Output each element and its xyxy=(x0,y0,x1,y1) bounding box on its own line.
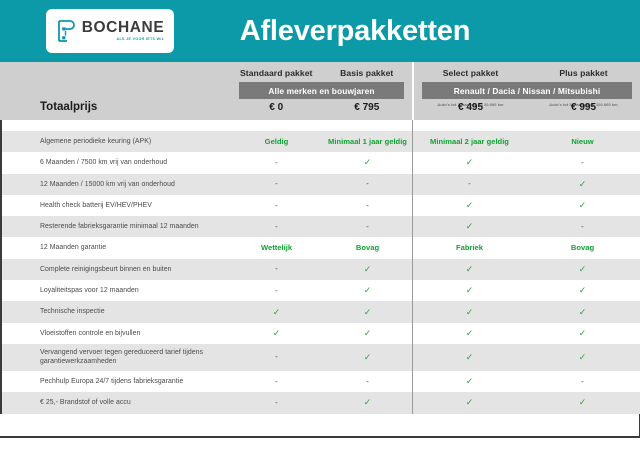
dash-icon: - xyxy=(275,378,278,386)
cell-basis: ✓ xyxy=(322,344,413,371)
left-edge-rule xyxy=(0,344,2,371)
dash-icon: - xyxy=(366,378,369,386)
check-icon: ✓ xyxy=(579,308,587,317)
check-icon: ✓ xyxy=(466,222,474,231)
cell-plus: ✓ xyxy=(526,344,639,371)
check-icon: ✓ xyxy=(466,329,474,338)
cell-value: Bovag xyxy=(571,244,594,252)
cell-value: Minimaal 1 jaar geldig xyxy=(328,138,407,146)
dash-icon: - xyxy=(366,223,369,231)
page-title: Afleverpakketten xyxy=(0,15,640,48)
row-label-cell: Vloeistoffen controle en bijvullen xyxy=(0,323,231,344)
table-row: 12 Maanden garantieWettelijkBovagFabriek… xyxy=(0,237,640,258)
cell-plus: Nieuw xyxy=(526,131,639,152)
check-icon: ✓ xyxy=(579,286,587,295)
cell-standaard: - xyxy=(231,280,322,301)
left-edge-rule xyxy=(0,131,2,152)
cell-standaard: ✓ xyxy=(231,323,322,344)
dash-icon: - xyxy=(275,265,278,273)
cell-plus: ✓ xyxy=(526,301,639,322)
group-band-all-brands: Alle merken en bouwjaren xyxy=(239,82,404,99)
cell-basis: Bovag xyxy=(322,237,413,258)
cell-plus: ✓ xyxy=(526,323,639,344)
column-title-select: Select pakket xyxy=(414,68,527,78)
dash-icon: - xyxy=(366,202,369,210)
price-plus: € 995 xyxy=(527,102,640,113)
check-icon: ✓ xyxy=(579,201,587,210)
cell-basis: ✓ xyxy=(322,152,413,173)
left-edge-rule xyxy=(0,195,2,216)
group-divider-rule xyxy=(412,237,413,258)
dash-icon: - xyxy=(581,223,584,231)
table-row: Technische inspectie✓✓✓✓ xyxy=(0,301,640,322)
cell-standaard: - xyxy=(231,392,322,413)
cell-value: Fabriek xyxy=(456,244,483,252)
cell-standaard: Geldig xyxy=(231,131,322,152)
row-label-cell: Pechhulp Europa 24/7 tijdens fabrieksgar… xyxy=(0,371,231,392)
column-title-basis: Basis pakket xyxy=(322,68,413,78)
cell-basis: ✓ xyxy=(322,280,413,301)
cell-plus: ✓ xyxy=(526,280,639,301)
group-divider-rule xyxy=(412,344,413,371)
cell-select: ✓ xyxy=(413,323,526,344)
left-edge-rule xyxy=(0,301,2,322)
table-row: Health check batterij EV/HEV/PHEV--✓✓ xyxy=(0,195,640,216)
dash-icon: - xyxy=(275,399,278,407)
group-divider-rule xyxy=(412,301,413,322)
check-icon: ✓ xyxy=(466,286,474,295)
cell-basis: - xyxy=(322,174,413,195)
cell-standaard: - xyxy=(231,371,322,392)
row-label: Pechhulp Europa 24/7 tijdens fabrieksgar… xyxy=(40,377,183,386)
check-icon: ✓ xyxy=(466,265,474,274)
table-footer-strip xyxy=(0,414,640,438)
cell-standaard: - xyxy=(231,152,322,173)
dash-icon: - xyxy=(275,159,278,167)
cell-basis: ✓ xyxy=(322,392,413,413)
package-comparison-table: Totaalprijs Standaard pakket Basis pakke… xyxy=(0,62,640,438)
page-header: BOCHANE ALS JE VOOR IETS WIL Afleverpakk… xyxy=(0,0,640,62)
left-edge-rule xyxy=(0,323,2,344)
check-icon: ✓ xyxy=(364,286,372,295)
row-label-cell: Vervangend vervoer tegen gereduceerd tar… xyxy=(0,344,231,371)
dash-icon: - xyxy=(275,223,278,231)
group-divider-rule xyxy=(412,392,413,413)
cell-basis: - xyxy=(322,371,413,392)
cell-select: ✓ xyxy=(413,152,526,173)
cell-plus: ✓ xyxy=(526,195,639,216)
cell-plus: ✓ xyxy=(526,259,639,280)
dash-icon: - xyxy=(275,353,278,361)
check-icon: ✓ xyxy=(364,265,372,274)
left-edge-rule xyxy=(0,152,2,173)
price-basis: € 795 xyxy=(322,102,413,113)
table-row: Complete reinigingsbeurt binnen en buite… xyxy=(0,259,640,280)
cell-select: ✓ xyxy=(413,371,526,392)
check-icon: ✓ xyxy=(364,353,372,362)
row-label-cell: Loyaliteitspas voor 12 maanden xyxy=(0,280,231,301)
cell-standaard: - xyxy=(231,195,322,216)
row-label-cell: Technische inspectie xyxy=(0,301,231,322)
cell-plus: Bovag xyxy=(526,237,639,258)
cell-select: Fabriek xyxy=(413,237,526,258)
table-row: Resterende fabrieksgarantie minimaal 12 … xyxy=(0,216,640,237)
cell-select: ✓ xyxy=(413,280,526,301)
price-select: € 495 xyxy=(414,102,527,113)
left-edge-rule xyxy=(0,280,2,301)
column-title-plus: Plus pakket xyxy=(527,68,640,78)
left-edge-rule xyxy=(0,216,2,237)
row-label-cell: 12 Maanden garantie xyxy=(0,237,231,258)
cell-plus: ✓ xyxy=(526,174,639,195)
left-edge-rule xyxy=(0,174,2,195)
dash-icon: - xyxy=(366,180,369,188)
cell-plus: - xyxy=(526,152,639,173)
check-icon: ✓ xyxy=(466,377,474,386)
check-icon: ✓ xyxy=(579,265,587,274)
row-label: Vervangend vervoer tegen gereduceerd tar… xyxy=(40,348,231,367)
table-row: Vloeistoffen controle en bijvullen✓✓✓✓ xyxy=(0,323,640,344)
row-label: 6 Maanden / 7500 km vrij van onderhoud xyxy=(40,158,167,167)
cell-basis: ✓ xyxy=(322,301,413,322)
group-divider-rule xyxy=(412,216,413,237)
dash-icon: - xyxy=(581,159,584,167)
afleverpakketten-page: BOCHANE ALS JE VOOR IETS WIL Afleverpakk… xyxy=(0,0,640,453)
row-label-cell: € 25,- Brandstof of volle accu xyxy=(0,392,231,413)
group-divider-rule xyxy=(412,323,413,344)
table-row: Pechhulp Europa 24/7 tijdens fabrieksgar… xyxy=(0,371,640,392)
check-icon: ✓ xyxy=(364,308,372,317)
cell-select: ✓ xyxy=(413,259,526,280)
group-divider-rule xyxy=(412,152,413,173)
row-label: Complete reinigingsbeurt binnen en buite… xyxy=(40,265,172,274)
check-icon: ✓ xyxy=(466,201,474,210)
check-icon: ✓ xyxy=(466,353,474,362)
group-divider-rule xyxy=(412,280,413,301)
check-icon: ✓ xyxy=(466,398,474,407)
cell-select: ✓ xyxy=(413,195,526,216)
group-divider-rule xyxy=(412,120,413,131)
row-label: Algemene periodieke keuring (APK) xyxy=(40,137,151,146)
cell-basis: Minimaal 1 jaar geldig xyxy=(322,131,413,152)
left-edge-rule xyxy=(0,237,2,258)
cell-value: Nieuw xyxy=(571,138,593,146)
group-divider-rule xyxy=(412,371,413,392)
dash-icon: - xyxy=(275,180,278,188)
row-label: Loyaliteitspas voor 12 maanden xyxy=(40,286,139,295)
left-edge-rule xyxy=(0,259,2,280)
row-label-cell: Algemene periodieke keuring (APK) xyxy=(0,131,231,152)
left-edge-rule xyxy=(0,392,2,413)
row-label-cell: Resterende fabrieksgarantie minimaal 12 … xyxy=(0,216,231,237)
cell-select: ✓ xyxy=(413,216,526,237)
cell-basis: ✓ xyxy=(322,259,413,280)
left-edge-rule xyxy=(0,371,2,392)
row-label: Technische inspectie xyxy=(40,307,105,316)
dash-icon: - xyxy=(275,287,278,295)
check-icon: ✓ xyxy=(273,308,281,317)
left-edge-rule xyxy=(0,120,2,131)
table-row: 6 Maanden / 7500 km vrij van onderhoud-✓… xyxy=(0,152,640,173)
dash-icon: - xyxy=(468,180,471,188)
check-icon: ✓ xyxy=(364,329,372,338)
header-body-spacer xyxy=(0,120,640,131)
table-body: Algemene periodieke keuring (APK)GeldigM… xyxy=(0,131,640,414)
cell-basis: ✓ xyxy=(322,323,413,344)
row-label-cell: 6 Maanden / 7500 km vrij van onderhoud xyxy=(0,152,231,173)
cell-standaard: Wettelijk xyxy=(231,237,322,258)
row-label-cell: 12 Maanden / 15000 km vrij van onderhoud xyxy=(0,174,231,195)
table-row: 12 Maanden / 15000 km vrij van onderhoud… xyxy=(0,174,640,195)
table-row: Algemene periodieke keuring (APK)GeldigM… xyxy=(0,131,640,152)
check-icon: ✓ xyxy=(364,398,372,407)
dash-icon: - xyxy=(581,378,584,386)
cell-value: Bovag xyxy=(356,244,379,252)
group-divider-rule xyxy=(412,131,413,152)
row-label-cell: Complete reinigingsbeurt binnen en buite… xyxy=(0,259,231,280)
cell-standaard: - xyxy=(231,174,322,195)
check-icon: ✓ xyxy=(579,180,587,189)
group-band-renault-family: Renault / Dacia / Nissan / Mitsubishi xyxy=(422,82,632,99)
cell-plus: - xyxy=(526,216,639,237)
cell-plus: - xyxy=(526,371,639,392)
cell-value: Minimaal 2 jaar geldig xyxy=(430,138,509,146)
check-icon: ✓ xyxy=(579,398,587,407)
cell-select: ✓ xyxy=(413,392,526,413)
group-renault-family: Select pakket Plus pakket Renault / Daci… xyxy=(414,62,640,120)
cell-basis: - xyxy=(322,216,413,237)
check-icon: ✓ xyxy=(579,353,587,362)
table-header: Totaalprijs Standaard pakket Basis pakke… xyxy=(0,62,640,120)
row-label: Resterende fabrieksgarantie minimaal 12 … xyxy=(40,222,199,231)
cell-select: ✓ xyxy=(413,344,526,371)
row-label-cell: Health check batterij EV/HEV/PHEV xyxy=(0,195,231,216)
group-all-brands: Standaard pakket Basis pakket Alle merke… xyxy=(231,62,412,120)
total-price-label: Totaalprijs xyxy=(40,101,97,113)
row-label: € 25,- Brandstof of volle accu xyxy=(40,398,131,407)
row-label: Health check batterij EV/HEV/PHEV xyxy=(40,201,152,210)
row-label: 12 Maanden / 15000 km vrij van onderhoud xyxy=(40,180,175,189)
cell-value: Geldig xyxy=(265,138,289,146)
check-icon: ✓ xyxy=(579,329,587,338)
cell-standaard: ✓ xyxy=(231,301,322,322)
cell-value: Wettelijk xyxy=(261,244,292,252)
check-icon: ✓ xyxy=(364,158,372,167)
check-icon: ✓ xyxy=(466,308,474,317)
cell-standaard: - xyxy=(231,259,322,280)
column-title-standaard: Standaard pakket xyxy=(231,68,322,78)
price-standaard: € 0 xyxy=(231,102,322,113)
group-divider-rule xyxy=(412,174,413,195)
table-row: € 25,- Brandstof of volle accu-✓✓✓ xyxy=(0,392,640,413)
table-row: Loyaliteitspas voor 12 maanden-✓✓✓ xyxy=(0,280,640,301)
group-divider-rule xyxy=(412,195,413,216)
cell-select: ✓ xyxy=(413,301,526,322)
cell-standaard: - xyxy=(231,344,322,371)
check-icon: ✓ xyxy=(273,329,281,338)
row-label: 12 Maanden garantie xyxy=(40,243,106,252)
cell-select: - xyxy=(413,174,526,195)
table-row: Vervangend vervoer tegen gereduceerd tar… xyxy=(0,344,640,371)
cell-select: Minimaal 2 jaar geldig xyxy=(413,131,526,152)
check-icon: ✓ xyxy=(466,158,474,167)
cell-standaard: - xyxy=(231,216,322,237)
dash-icon: - xyxy=(275,202,278,210)
cell-basis: - xyxy=(322,195,413,216)
bottom-rule xyxy=(0,436,640,438)
cell-plus: ✓ xyxy=(526,392,639,413)
group-divider-rule xyxy=(412,259,413,280)
row-label: Vloeistoffen controle en bijvullen xyxy=(40,329,140,338)
